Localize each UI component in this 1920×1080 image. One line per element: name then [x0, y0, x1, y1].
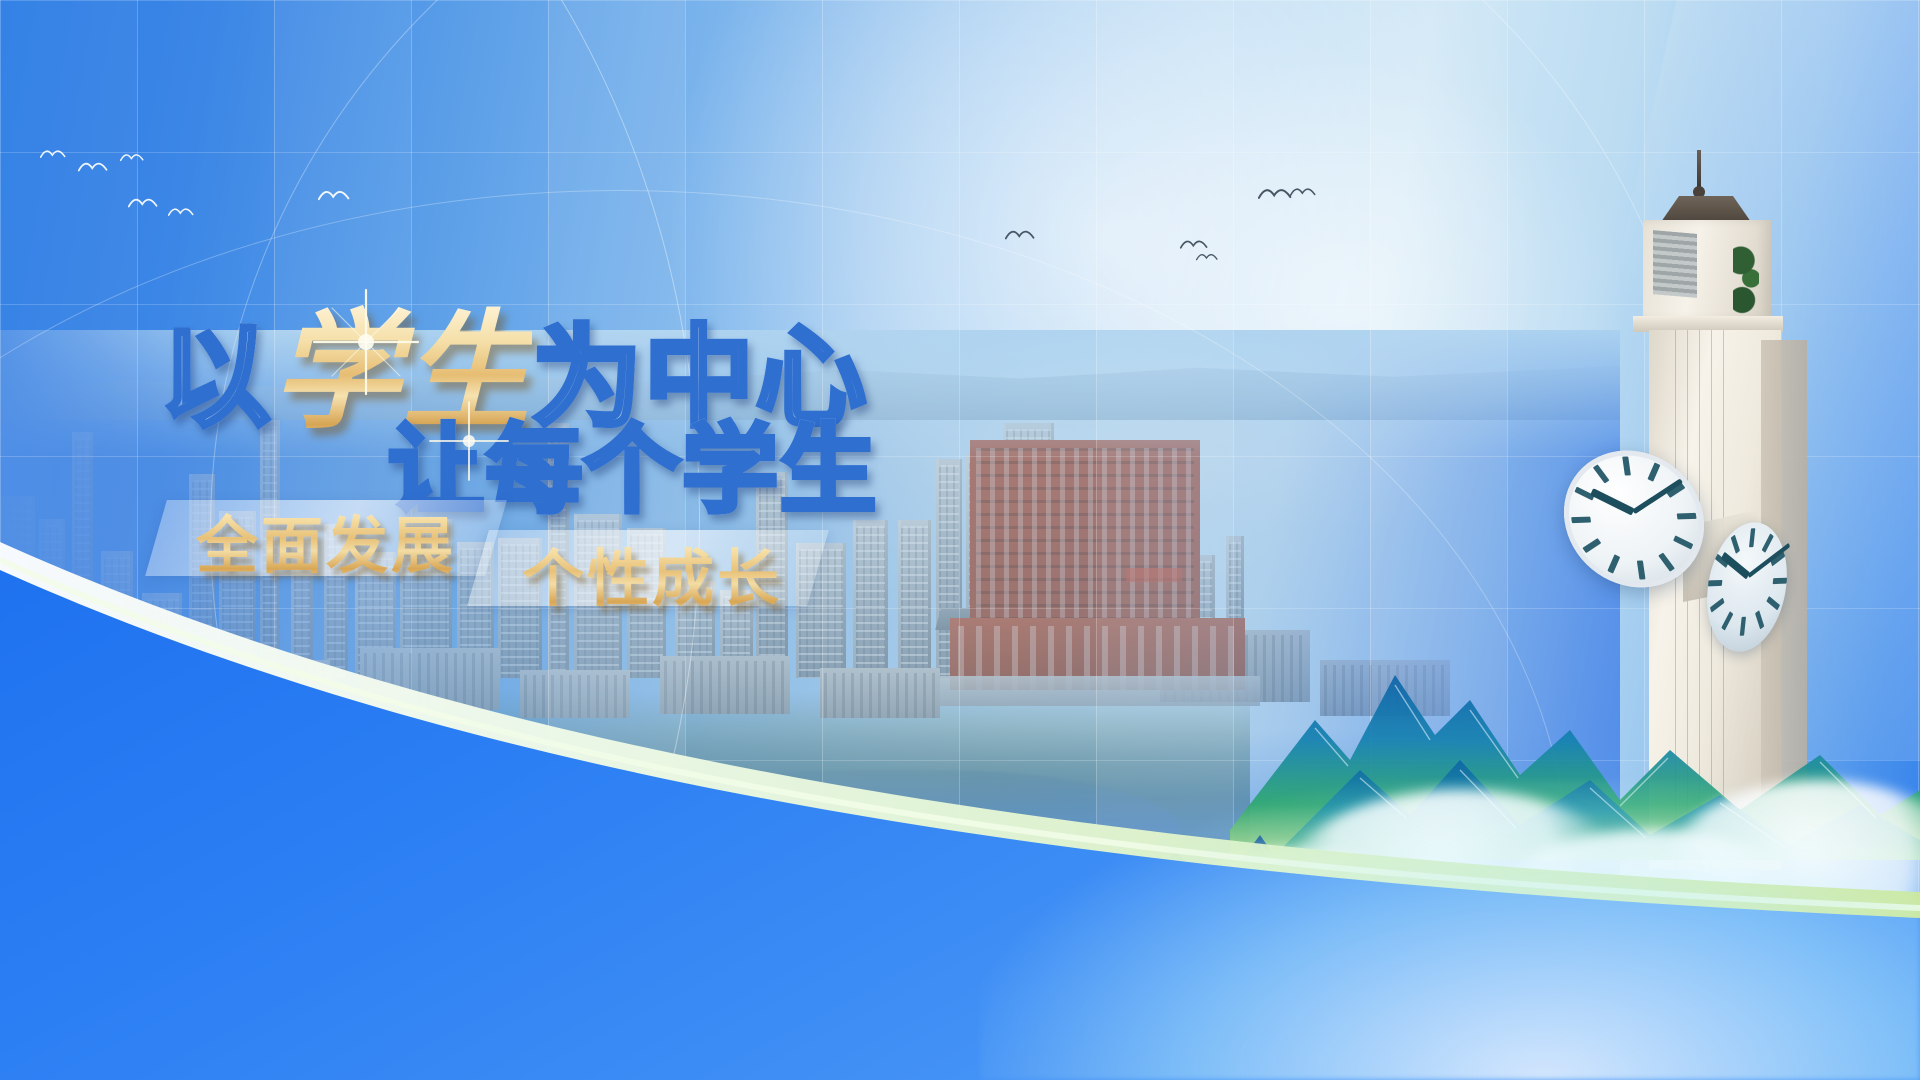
ribbon-text-2: 个性成长 — [522, 528, 782, 618]
slogan-block: 以学生为中心 让每个学生 全面发展 个性成长 — [0, 0, 1920, 1080]
slogan-line1-part-0: 以 — [160, 317, 272, 440]
ribbon-text-1: 全面发展 — [196, 495, 456, 585]
hero-banner: 以学生为中心 让每个学生 全面发展 个性成长 — [0, 0, 1920, 1080]
